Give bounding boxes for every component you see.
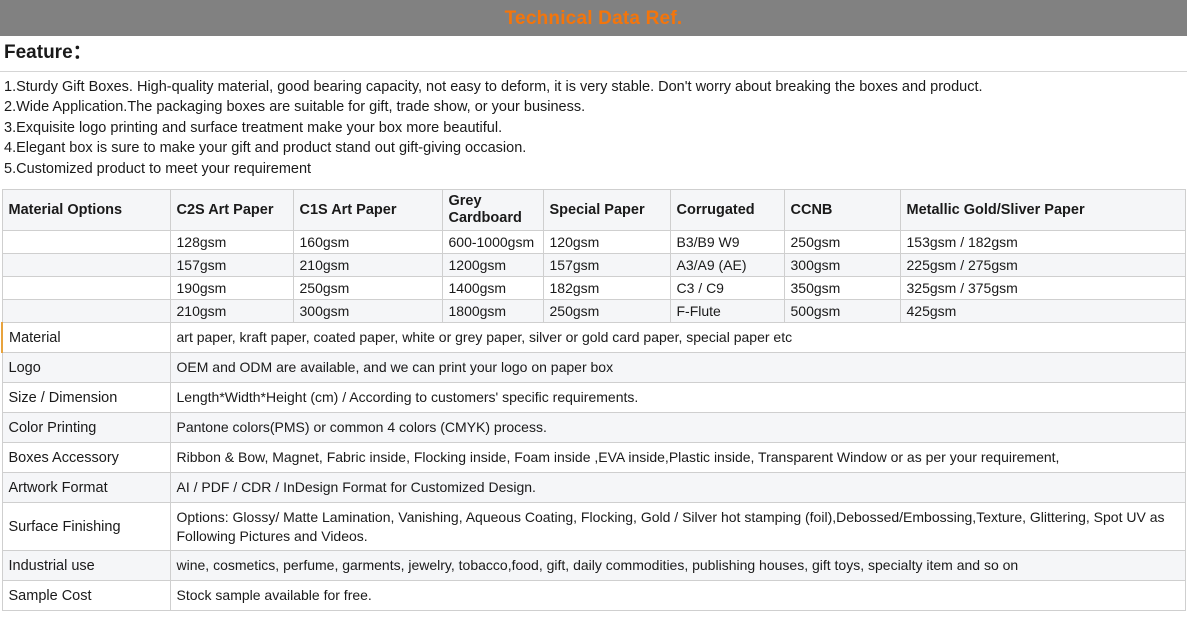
cell-corrugated: F-Flute (670, 300, 784, 323)
cell-metallic: 425gsm (900, 300, 1185, 323)
page-title: Technical Data Ref. (505, 9, 683, 28)
cell-c2s: 210gsm (170, 300, 293, 323)
spec-row-sample-cost: Sample Cost Stock sample available for f… (2, 581, 1185, 611)
spec-label-sample-cost: Sample Cost (2, 581, 170, 611)
col-header-c1s-art-paper: C1S Art Paper (293, 190, 442, 231)
feature-line: 1.Sturdy Gift Boxes. High-quality materi… (4, 77, 1183, 98)
col-header-material-options: Material Options (2, 190, 170, 231)
cell-grey-cardboard: 1200gsm (442, 254, 543, 277)
cell-metallic: 325gsm / 375gsm (900, 277, 1185, 300)
cell-material-options (2, 277, 170, 300)
cell-corrugated: C3 / C9 (670, 277, 784, 300)
spec-label-industrial-use: Industrial use (2, 551, 170, 581)
feature-line: 4.Elegant box is sure to make your gift … (4, 138, 1183, 159)
spec-label-material: Material (2, 323, 170, 353)
cell-special-paper: 120gsm (543, 231, 670, 254)
material-options-header-row: Material Options C2S Art Paper C1S Art P… (2, 190, 1185, 231)
cell-corrugated: B3/B9 W9 (670, 231, 784, 254)
spec-value-industrial-use: wine, cosmetics, perfume, garments, jewe… (170, 551, 1185, 581)
cell-ccnb: 250gsm (784, 231, 900, 254)
cell-special-paper: 157gsm (543, 254, 670, 277)
cell-c2s: 157gsm (170, 254, 293, 277)
spec-label-boxes-accessory: Boxes Accessory (2, 443, 170, 473)
cell-ccnb: 500gsm (784, 300, 900, 323)
spec-value-surface-finishing: Options: Glossy/ Matte Lamination, Vanis… (170, 503, 1185, 551)
cell-grey-cardboard: 1400gsm (442, 277, 543, 300)
spec-value-boxes-accessory: Ribbon & Bow, Magnet, Fabric inside, Flo… (170, 443, 1185, 473)
feature-line: 5.Customized product to meet your requir… (4, 159, 1183, 180)
col-header-c2s-art-paper: C2S Art Paper (170, 190, 293, 231)
specification-table: Material Options C2S Art Paper C1S Art P… (1, 189, 1186, 611)
table-row: 128gsm 160gsm 600-1000gsm 120gsm B3/B9 W… (2, 231, 1185, 254)
cell-ccnb: 350gsm (784, 277, 900, 300)
col-header-special-paper: Special Paper (543, 190, 670, 231)
table-row: 210gsm 300gsm 1800gsm 250gsm F-Flute 500… (2, 300, 1185, 323)
spec-label-surface-finishing: Surface Finishing (2, 503, 170, 551)
cell-metallic: 153gsm / 182gsm (900, 231, 1185, 254)
technical-data-page: Technical Data Ref. Feature： 1.Sturdy Gi… (0, 0, 1187, 620)
cell-special-paper: 182gsm (543, 277, 670, 300)
feature-line: 3.Exquisite logo printing and surface tr… (4, 118, 1183, 139)
cell-c2s: 128gsm (170, 231, 293, 254)
spec-row-boxes-accessory: Boxes Accessory Ribbon & Bow, Magnet, Fa… (2, 443, 1185, 473)
cell-ccnb: 300gsm (784, 254, 900, 277)
feature-heading: Feature： (4, 42, 1183, 65)
cell-material-options (2, 300, 170, 323)
cell-grey-cardboard: 1800gsm (442, 300, 543, 323)
spec-row-color-printing: Color Printing Pantone colors(PMS) or co… (2, 413, 1185, 443)
col-header-corrugated: Corrugated (670, 190, 784, 231)
spec-row-logo: Logo OEM and ODM are available, and we c… (2, 353, 1185, 383)
spec-value-size-dimension: Length*Width*Height (cm) / According to … (170, 383, 1185, 413)
cell-c2s: 190gsm (170, 277, 293, 300)
spec-value-logo: OEM and ODM are available, and we can pr… (170, 353, 1185, 383)
cell-grey-cardboard: 600-1000gsm (442, 231, 543, 254)
spec-row-surface-finishing: Surface Finishing Options: Glossy/ Matte… (2, 503, 1185, 551)
spec-row-industrial-use: Industrial use wine, cosmetics, perfume,… (2, 551, 1185, 581)
spec-row-size-dimension: Size / Dimension Length*Width*Height (cm… (2, 383, 1185, 413)
spec-value-color-printing: Pantone colors(PMS) or common 4 colors (… (170, 413, 1185, 443)
page-title-bar: Technical Data Ref. (0, 0, 1187, 36)
cell-c1s: 300gsm (293, 300, 442, 323)
cell-material-options (2, 231, 170, 254)
table-row: 190gsm 250gsm 1400gsm 182gsm C3 / C9 350… (2, 277, 1185, 300)
spec-value-artwork-format: AI / PDF / CDR / InDesign Format for Cus… (170, 473, 1185, 503)
feature-list: 1.Sturdy Gift Boxes. High-quality materi… (0, 72, 1187, 184)
cell-special-paper: 250gsm (543, 300, 670, 323)
cell-metallic: 225gsm / 275gsm (900, 254, 1185, 277)
spec-value-material: art paper, kraft paper, coated paper, wh… (170, 323, 1185, 353)
cell-c1s: 210gsm (293, 254, 442, 277)
table-row: 157gsm 210gsm 1200gsm 157gsm A3/A9 (AE) … (2, 254, 1185, 277)
spec-value-sample-cost: Stock sample available for free. (170, 581, 1185, 611)
spec-label-logo: Logo (2, 353, 170, 383)
feature-heading-block: Feature： (0, 36, 1187, 72)
spec-label-size-dimension: Size / Dimension (2, 383, 170, 413)
cell-c1s: 160gsm (293, 231, 442, 254)
col-header-grey-cardboard: Grey Cardboard (442, 190, 543, 231)
cell-material-options (2, 254, 170, 277)
col-header-ccnb: CCNB (784, 190, 900, 231)
feature-line: 2.Wide Application.The packaging boxes a… (4, 97, 1183, 118)
spec-row-material: Material art paper, kraft paper, coated … (2, 323, 1185, 353)
spec-row-artwork-format: Artwork Format AI / PDF / CDR / InDesign… (2, 473, 1185, 503)
cell-c1s: 250gsm (293, 277, 442, 300)
col-header-metallic-gold-sliver-paper: Metallic Gold/Sliver Paper (900, 190, 1185, 231)
cell-corrugated: A3/A9 (AE) (670, 254, 784, 277)
spec-label-artwork-format: Artwork Format (2, 473, 170, 503)
spec-label-color-printing: Color Printing (2, 413, 170, 443)
